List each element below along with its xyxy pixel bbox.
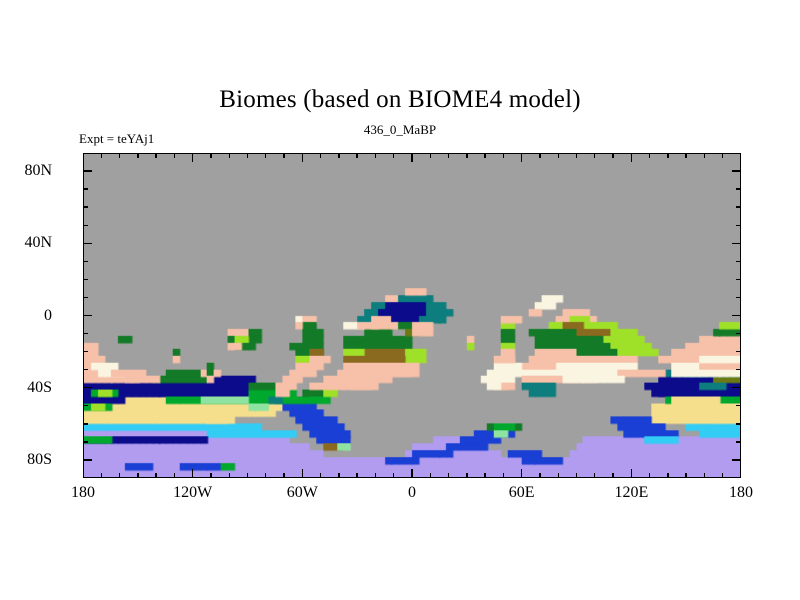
y-tick	[83, 369, 88, 370]
y-tick	[736, 206, 741, 207]
x-tick	[576, 473, 577, 478]
x-tick	[558, 153, 559, 158]
x-tick	[192, 153, 193, 162]
x-tick	[521, 153, 522, 162]
y-tick	[83, 225, 88, 226]
y-tick	[732, 459, 741, 460]
y-tick-label: 40N	[24, 234, 52, 252]
x-tick	[484, 473, 485, 478]
x-tick	[210, 473, 211, 478]
x-tick	[302, 153, 303, 162]
x-tick	[265, 473, 266, 478]
x-tick	[539, 153, 540, 158]
x-tick	[283, 473, 284, 478]
x-tick	[539, 473, 540, 478]
x-tick	[174, 473, 175, 478]
x-tick	[612, 473, 613, 478]
x-tick	[722, 153, 723, 158]
x-tick	[448, 473, 449, 478]
x-tick	[320, 473, 321, 478]
x-tick	[155, 473, 156, 478]
map-plot-area	[83, 153, 741, 478]
y-tick	[732, 315, 741, 316]
y-tick	[83, 459, 92, 460]
x-tick	[101, 153, 102, 158]
x-tick	[521, 469, 522, 478]
x-tick	[375, 153, 376, 158]
x-tick	[594, 473, 595, 478]
y-tick	[83, 188, 88, 189]
x-tick	[667, 473, 668, 478]
x-tick	[137, 473, 138, 478]
y-tick	[83, 387, 92, 388]
y-tick	[83, 297, 88, 298]
x-tick	[576, 153, 577, 158]
x-tick-label: 60W	[287, 484, 318, 502]
x-tick	[667, 153, 668, 158]
y-tick	[83, 351, 88, 352]
x-tick	[503, 153, 504, 158]
y-tick	[83, 206, 88, 207]
y-tick	[83, 170, 92, 171]
x-tick	[356, 153, 357, 158]
page-title: Biomes (based on BIOME4 model)	[0, 86, 800, 114]
x-tick-label: 120E	[614, 484, 648, 502]
x-tick	[320, 153, 321, 158]
y-tick	[736, 225, 741, 226]
x-tick	[174, 153, 175, 158]
x-tick-label: 60E	[509, 484, 535, 502]
x-tick-label: 0	[408, 484, 416, 502]
x-tick	[704, 153, 705, 158]
y-tick	[83, 441, 88, 442]
y-tick	[83, 405, 88, 406]
x-tick	[375, 473, 376, 478]
x-tick	[119, 153, 120, 158]
x-tick	[229, 153, 230, 158]
x-tick-label: 180	[729, 484, 753, 502]
x-tick	[247, 153, 248, 158]
x-tick	[430, 153, 431, 158]
x-tick	[631, 153, 632, 162]
y-tick	[736, 261, 741, 262]
y-tick	[736, 333, 741, 334]
y-tick	[736, 423, 741, 424]
x-tick	[411, 469, 412, 478]
x-tick	[338, 153, 339, 158]
x-tick-label: 180	[71, 484, 95, 502]
x-tick	[119, 473, 120, 478]
x-tick	[393, 473, 394, 478]
y-tick	[83, 333, 88, 334]
y-tick	[736, 351, 741, 352]
y-tick	[732, 243, 741, 244]
x-tick	[704, 473, 705, 478]
x-tick	[155, 153, 156, 158]
biome-map-canvas	[84, 154, 740, 477]
y-tick	[736, 441, 741, 442]
x-tick	[338, 473, 339, 478]
y-tick	[83, 261, 88, 262]
y-tick	[736, 369, 741, 370]
x-tick	[101, 473, 102, 478]
x-tick	[685, 153, 686, 158]
y-tick	[736, 297, 741, 298]
experiment-label: Expt = teYAj1	[79, 131, 154, 147]
x-tick	[594, 153, 595, 158]
x-tick	[503, 473, 504, 478]
x-tick	[265, 153, 266, 158]
x-tick	[229, 473, 230, 478]
y-tick	[83, 279, 88, 280]
x-tick	[137, 153, 138, 158]
x-tick	[393, 153, 394, 158]
x-tick	[283, 153, 284, 158]
x-tick	[247, 473, 248, 478]
x-tick	[192, 469, 193, 478]
x-tick-label: 120W	[173, 484, 212, 502]
x-tick	[430, 473, 431, 478]
x-tick	[466, 153, 467, 158]
x-tick	[484, 153, 485, 158]
x-tick	[356, 473, 357, 478]
y-tick	[736, 279, 741, 280]
x-tick	[302, 469, 303, 478]
x-tick	[631, 469, 632, 478]
y-tick	[83, 243, 92, 244]
x-tick	[558, 473, 559, 478]
y-tick	[83, 423, 88, 424]
x-tick	[649, 473, 650, 478]
x-tick	[649, 153, 650, 158]
figure-root: Biomes (based on BIOME4 model) 436_0_MaB…	[0, 0, 800, 600]
x-tick	[448, 153, 449, 158]
x-tick	[685, 473, 686, 478]
y-tick	[83, 315, 92, 316]
x-tick	[612, 153, 613, 158]
y-tick	[732, 170, 741, 171]
y-tick-label: 80N	[24, 162, 52, 180]
y-tick-label: 80S	[27, 451, 52, 469]
x-tick	[210, 153, 211, 158]
y-tick-label: 40S	[27, 379, 52, 397]
x-tick	[411, 153, 412, 162]
y-tick	[732, 387, 741, 388]
x-tick	[722, 473, 723, 478]
y-tick	[736, 188, 741, 189]
y-tick-label: 0	[44, 307, 52, 325]
y-tick	[736, 405, 741, 406]
x-tick	[466, 473, 467, 478]
